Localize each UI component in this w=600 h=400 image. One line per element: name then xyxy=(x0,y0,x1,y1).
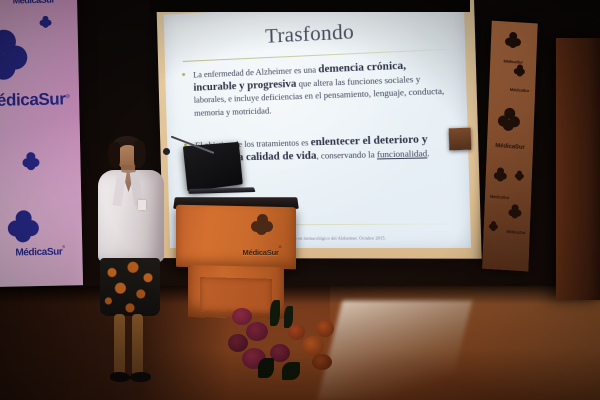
medicasur-clover-icon xyxy=(505,32,522,49)
speaker-name-badge xyxy=(138,200,146,210)
banner-right-wordmark-1: MédicaSur xyxy=(510,87,530,93)
flower-accent xyxy=(312,354,332,370)
medicasur-clover-icon xyxy=(494,167,507,181)
banner-right-wordmark-3: MédicaSur xyxy=(490,194,510,200)
medicasur-clover-icon xyxy=(514,64,525,76)
bullet-2-seg-4: . xyxy=(427,149,430,159)
flower-rose xyxy=(228,334,248,352)
bullet-dot-icon xyxy=(182,73,185,76)
registered-mark-icon: ® xyxy=(65,94,70,100)
banner-right-wordmark-2: MédicaSur xyxy=(495,143,525,151)
microphone-head-icon xyxy=(163,148,170,155)
presenter-laptop[interactable] xyxy=(185,144,257,200)
medicasur-clover-icon xyxy=(515,170,524,180)
screen-top-shadow xyxy=(150,0,470,12)
laptop-screen[interactable] xyxy=(183,142,243,192)
bullet-2-seg-2: , conservando la xyxy=(316,150,377,161)
flower-accent xyxy=(288,324,305,340)
flower-rose xyxy=(246,322,268,341)
medicasur-clover-icon xyxy=(7,210,38,241)
flower-accent xyxy=(302,336,324,356)
speaker-shoe-left xyxy=(110,372,130,382)
slide-title: Trasfondo xyxy=(164,15,465,54)
medicasur-clover-icon xyxy=(22,152,39,169)
conference-stage-scene: MédicaSur® MédicaSur® xyxy=(0,0,600,400)
flower-rose xyxy=(232,308,252,325)
banner-left-medicasur: MédicaSur® MédicaSur® xyxy=(0,0,83,287)
floral-arrangement xyxy=(228,300,340,384)
laptop-keyboard-base[interactable] xyxy=(188,187,255,194)
banner-left-wordmark-0: MédicaSur xyxy=(13,0,55,5)
screen-wall-mount xyxy=(449,128,472,151)
banner-right-wordmark-4: MédicaSur xyxy=(506,229,526,235)
speaker-shoe-right xyxy=(130,372,151,382)
registered-mark-icon: ® xyxy=(279,245,282,250)
banner-right-medicasur: MédicaSur MédicaSur MédicaSur xyxy=(482,21,537,272)
stage-right-pillar xyxy=(556,38,600,300)
speaker-floral-skirt xyxy=(100,258,160,316)
medicasur-clover-icon xyxy=(251,214,273,234)
banner-left-wordmark-2: MédicaSur xyxy=(0,89,66,110)
floor-light-pool xyxy=(318,300,473,400)
medicasur-clover-icon xyxy=(508,204,521,218)
medicasur-clover-icon xyxy=(0,29,27,76)
bullet-1-seg-0: La enfermedad de Alzheimer es una xyxy=(193,65,318,79)
banner-left-wordmark-4: MédicaSur xyxy=(15,247,62,259)
bullet-2-seg-3: funcionalidad xyxy=(377,149,428,160)
speaker-leg-left xyxy=(114,314,125,376)
speaker-hair-left xyxy=(108,142,120,168)
slide-bullet-1: La enfermedad de Alzheimer es una demenc… xyxy=(179,58,453,120)
speaker-leg-right xyxy=(132,314,143,376)
speaker-presenter xyxy=(88,136,180,400)
podium-branding: MédicaSur® xyxy=(234,214,290,260)
flower-accent xyxy=(316,320,334,337)
medicasur-clover-icon xyxy=(498,107,521,130)
podium-wordmark: MédicaSur xyxy=(243,248,279,257)
speaker-hair-right xyxy=(134,141,146,168)
medicasur-clover-icon xyxy=(39,16,51,28)
registered-mark-icon: ® xyxy=(62,244,65,249)
